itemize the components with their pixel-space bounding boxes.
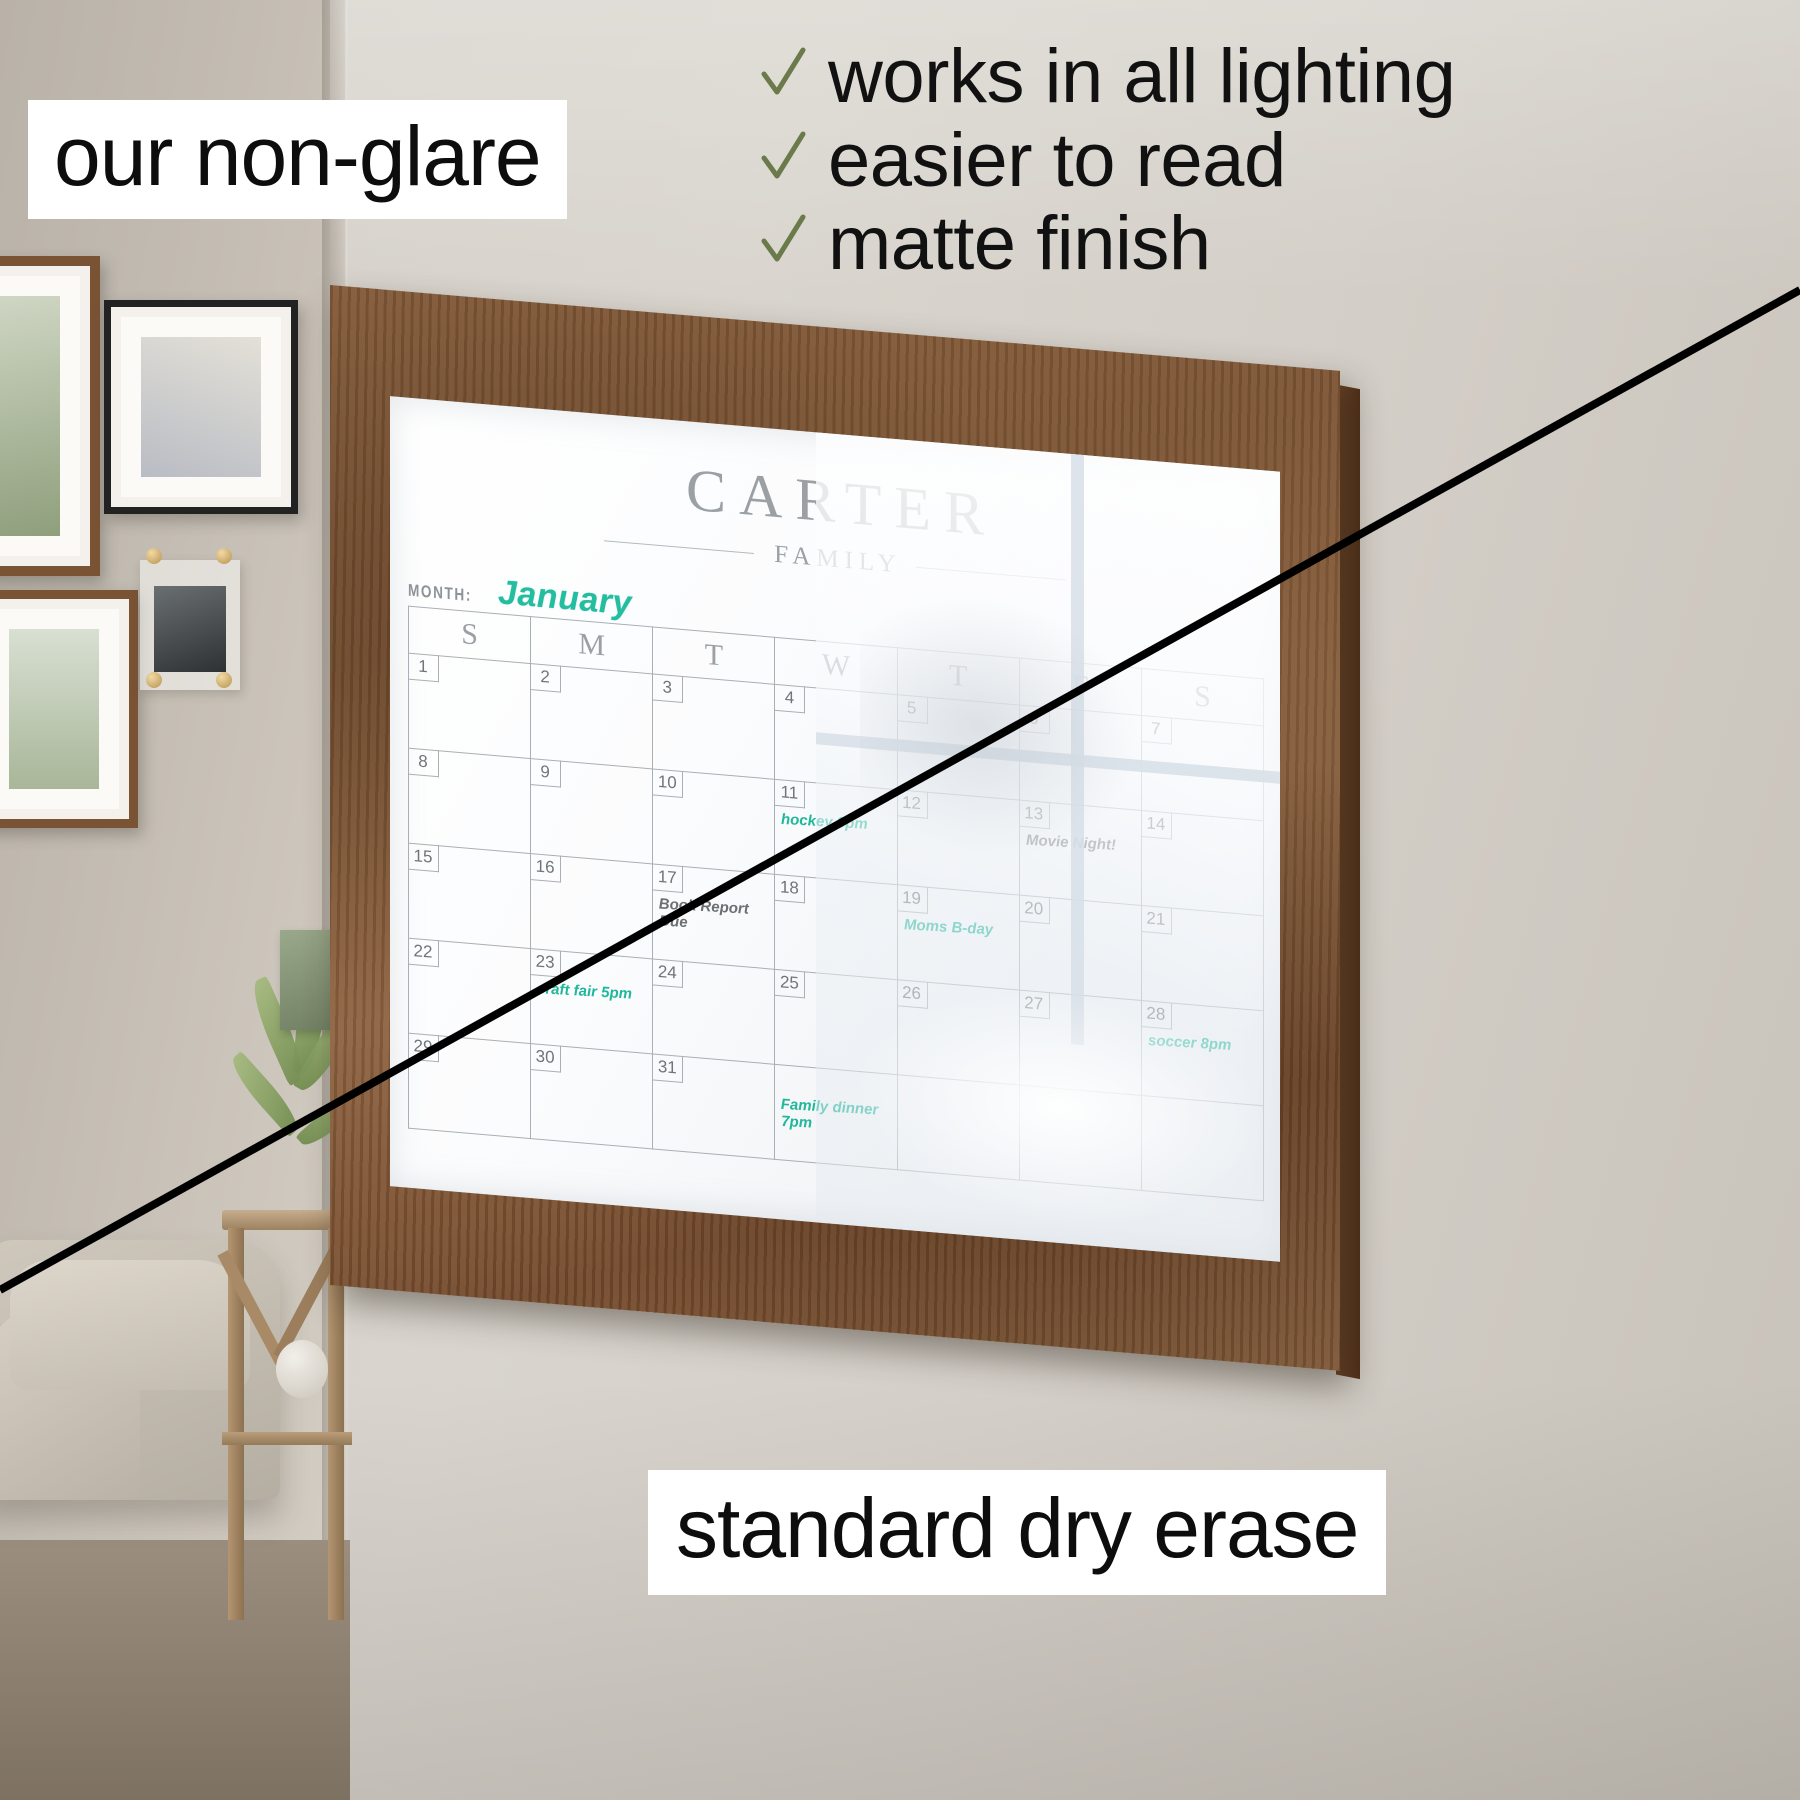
day-number: 11 [774, 779, 805, 809]
calendar-day-cell[interactable] [1019, 1085, 1141, 1190]
calendar-day-cell[interactable]: 21 [1141, 905, 1263, 1010]
check-icon [760, 128, 806, 186]
check-icon [760, 211, 806, 269]
calendar-day-cell[interactable]: 17Book Report Due [653, 864, 775, 969]
wall-art-photo [9, 629, 99, 789]
day-number: 17 [652, 863, 683, 893]
day-number: 13 [1019, 800, 1050, 830]
calendar-day-cell[interactable]: 29 [409, 1033, 531, 1138]
calendar-day-cell[interactable]: 27 [1019, 990, 1141, 1095]
day-number: 10 [652, 768, 683, 798]
day-number: 30 [530, 1043, 561, 1073]
calendar-day-cell[interactable] [897, 1075, 1019, 1180]
calendar-day-cell[interactable]: 2 [531, 664, 653, 769]
frame-pin [146, 548, 162, 564]
calendar-note[interactable]: Family dinner 7pm [781, 1097, 896, 1137]
day-number: 15 [408, 843, 439, 873]
day-number: 29 [408, 1033, 439, 1063]
wall-art-frame [0, 256, 100, 576]
day-number: 5 [897, 694, 928, 724]
calendar-day-cell[interactable] [1141, 1095, 1263, 1200]
calendar-day-cell[interactable]: 7 [1141, 715, 1263, 820]
calendar-day-cell[interactable]: 5 [897, 695, 1019, 800]
calendar-day-cell[interactable]: 14 [1141, 810, 1263, 915]
feature-bullet-text: easier to read [828, 122, 1286, 200]
calendar-note[interactable]: hockey 9pm [781, 812, 895, 836]
day-number: 19 [897, 884, 928, 914]
calendar-day-cell[interactable]: 6 [1019, 705, 1141, 810]
acrylic-photo-image [154, 586, 226, 672]
calendar-day-cell[interactable]: 26 [897, 980, 1019, 1085]
calendar-day-cell[interactable]: 22 [409, 938, 531, 1043]
feature-bullet-text: matte finish [828, 205, 1211, 283]
day-number: 2 [530, 663, 561, 693]
day-number: 3 [652, 673, 683, 703]
feature-bullet: matte finish [760, 205, 1455, 283]
screenshot-stage: CARTER FAMILY MONTH: January SMTWTFS 123… [0, 0, 1800, 1800]
frame-pin [216, 672, 232, 688]
calendar-day-cell[interactable]: 28soccer 8pm [1141, 1000, 1263, 1105]
calendar-day-cell[interactable]: 1 [409, 653, 531, 758]
day-number: 18 [774, 874, 805, 904]
calendar-note[interactable]: craft fair 5pm [537, 981, 651, 1005]
calendar-note[interactable]: Book Report Due [659, 896, 774, 936]
calendar-note[interactable]: Moms B-day [903, 917, 1017, 941]
non-glare-label: our non-glare [28, 100, 567, 219]
side-table-shelf [222, 1432, 352, 1445]
calendar-day-cell[interactable]: 3 [653, 674, 775, 779]
calendar-day-cell[interactable]: 23craft fair 5pm [531, 949, 653, 1054]
wall-art-photo [141, 337, 261, 477]
calendar-note[interactable]: Movie Night! [1026, 833, 1140, 857]
wall-art-photo [0, 296, 60, 536]
calendar-day-cell[interactable]: 9 [531, 759, 653, 864]
calendar-grid[interactable]: SMTWTFS 1234567891011hockey 9pm1213Movie… [408, 606, 1264, 1202]
sofa-cushion [10, 1260, 250, 1390]
calendar-day-cell[interactable]: 30 [531, 1044, 653, 1149]
feature-bullet: easier to read [760, 122, 1455, 200]
standard-dry-erase-label-text: standard dry erase [676, 1480, 1358, 1577]
calendar-day-cell[interactable]: 18 [775, 874, 897, 979]
day-number: 28 [1141, 1000, 1172, 1030]
day-number: 25 [774, 969, 805, 999]
calendar-day-cell[interactable]: Family dinner 7pm [775, 1064, 897, 1169]
feature-bullet: works in all lighting [760, 38, 1455, 116]
day-number: 4 [774, 684, 805, 714]
calendar-note[interactable]: soccer 8pm [1148, 1033, 1262, 1057]
wall-art-frame [104, 300, 298, 514]
frame-pin [146, 672, 162, 688]
day-number: 27 [1019, 990, 1050, 1020]
day-number: 1 [408, 653, 439, 683]
day-number: 9 [530, 758, 561, 788]
subtitle-rule-left [604, 540, 754, 554]
subtitle-rule-right [916, 566, 1066, 580]
frame-pin [216, 548, 232, 564]
calendar-day-cell[interactable]: 25 [775, 969, 897, 1074]
day-number: 21 [1141, 905, 1172, 935]
calendar: CARTER FAMILY MONTH: January SMTWTFS 123… [390, 396, 1280, 1262]
calendar-day-cell[interactable]: 15 [409, 843, 531, 948]
day-number: 20 [1019, 895, 1050, 925]
wall-art-frame [0, 590, 138, 828]
family-subtitle: FAMILY [768, 540, 901, 579]
day-number: 26 [897, 979, 928, 1009]
calendar-day-cell[interactable]: 11hockey 9pm [775, 779, 897, 884]
month-label: MONTH: [408, 581, 472, 606]
standard-dry-erase-label: standard dry erase [648, 1470, 1386, 1595]
day-number: 16 [530, 853, 561, 883]
day-number: 22 [408, 938, 439, 968]
calendar-day-cell[interactable]: 24 [653, 959, 775, 1064]
calendar-day-cell[interactable]: 20 [1019, 895, 1141, 1000]
calendar-day-cell[interactable]: 31 [653, 1054, 775, 1159]
calendar-day-cell[interactable]: 10 [653, 769, 775, 874]
day-number: 7 [1141, 715, 1172, 745]
decor-vase [276, 1340, 328, 1398]
calendar-day-cell[interactable]: 16 [531, 854, 653, 959]
check-icon [760, 44, 806, 102]
calendar-day-cell[interactable]: 8 [409, 748, 531, 853]
day-number: 24 [652, 958, 683, 988]
feature-bullet-text: works in all lighting [828, 38, 1455, 116]
day-number: 6 [1019, 705, 1050, 735]
day-number: 31 [652, 1053, 683, 1083]
calendar-day-cell[interactable]: 12 [897, 790, 1019, 895]
non-glare-label-text: our non-glare [54, 108, 541, 205]
day-number: 12 [897, 789, 928, 819]
feature-bullet-list: works in all lightingeasier to readmatte… [760, 38, 1455, 289]
day-number: 14 [1141, 810, 1172, 840]
calendar-day-cell[interactable]: 4 [775, 684, 897, 789]
board-surface[interactable]: CARTER FAMILY MONTH: January SMTWTFS 123… [390, 396, 1280, 1262]
acrylic-photo-frame [140, 560, 240, 690]
day-number: 8 [408, 748, 439, 778]
calendar-day-cell[interactable]: 19Moms B-day [897, 885, 1019, 990]
day-number: 23 [530, 948, 561, 978]
calendar-day-cell[interactable]: 13Movie Night! [1019, 800, 1141, 905]
dry-erase-calendar-board[interactable]: CARTER FAMILY MONTH: January SMTWTFS 123… [330, 285, 1340, 1491]
